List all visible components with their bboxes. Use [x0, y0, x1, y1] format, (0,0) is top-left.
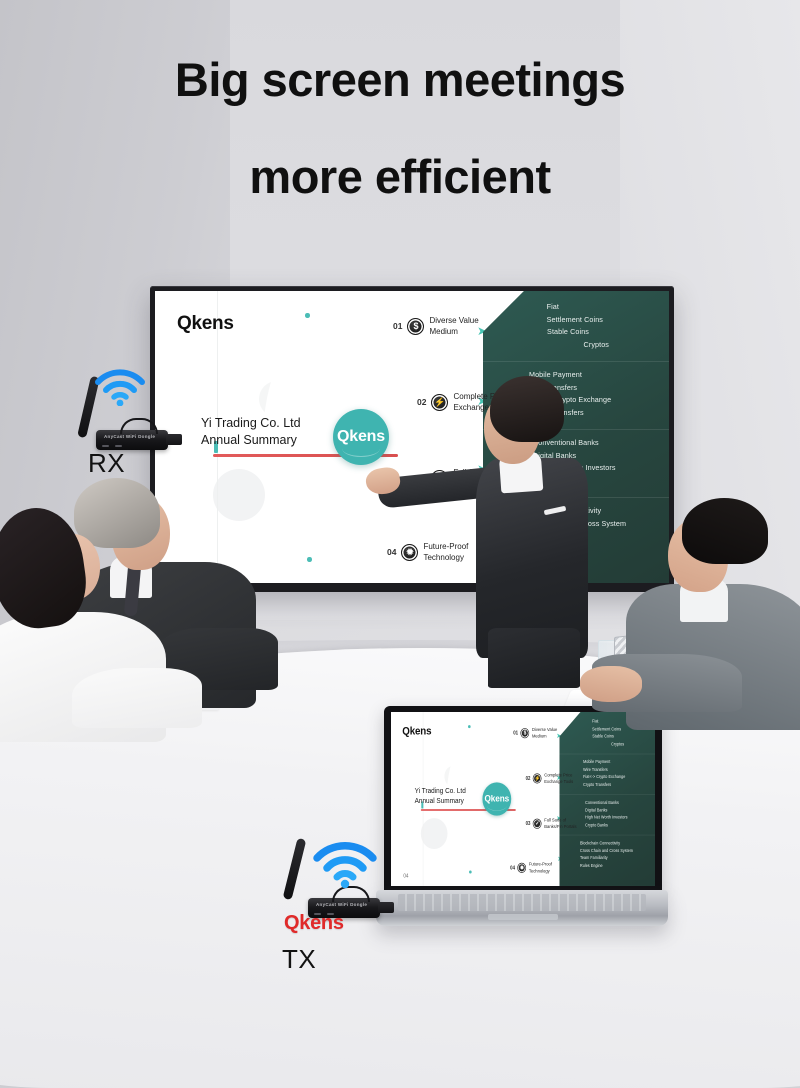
- coin-icon: ✹: [518, 862, 527, 872]
- slide-panel-line: Stable Coins: [570, 733, 632, 740]
- laptop-trackpad: [488, 914, 558, 920]
- slide-arc-dot: [469, 871, 471, 874]
- slide-item-text: Future-ProofTechnology: [529, 861, 552, 874]
- receiver-connector: [166, 434, 182, 445]
- laptop: ➤➤➤➤FiatSettlement CoinsStable CoinsCryp…: [376, 706, 668, 934]
- slide-logo: Qkens: [402, 725, 431, 738]
- slide-panel-group: Mobile PaymentWire TransfersFiat<-> Cryp…: [559, 758, 655, 788]
- slide-panel-line: Team Familiarity: [580, 854, 651, 861]
- slide-panel-line: Blockchain Connectivity: [580, 840, 651, 847]
- laptop-keyboard: [398, 894, 646, 911]
- coin-icon: ✹: [401, 544, 418, 561]
- slide-item-text: Complete PriceExchange Tools: [544, 772, 573, 785]
- headline-line-1: Big screen meetings: [0, 56, 800, 103]
- slide-item-number: 02: [526, 775, 531, 781]
- coin-icon: $: [521, 728, 530, 738]
- slide-company-title: Yi Trading Co. LtdAnnual Summary: [201, 415, 301, 449]
- slide-panel-line: Mobile Payment: [583, 758, 651, 765]
- wifi-icon-svg: [92, 366, 148, 406]
- slide-panel-line: Wire Transfers: [583, 766, 651, 773]
- slide-item-text: Future-ProofTechnology: [423, 541, 468, 563]
- slide-panel-group: Blockchain ConnectivityCross Chain and C…: [559, 840, 655, 870]
- slide-panel-line: Digital Banks: [585, 806, 651, 813]
- tx-label: TX: [282, 944, 316, 975]
- slide-list-item: 03✓Full Suite ofBanks/Fin Portals: [526, 817, 577, 830]
- slide-logo: Qkens: [177, 313, 234, 335]
- slide-item-number: 01: [513, 730, 518, 736]
- attendee-left-woman-arm: [72, 668, 202, 728]
- slide-panel-group: FiatSettlement CoinsStable CoinsCryptos: [483, 301, 669, 351]
- headline: Big screen meetings more efficient: [0, 56, 800, 200]
- transmitter-connector: [378, 902, 394, 913]
- slide-brand-badge: Qkens: [333, 409, 389, 465]
- slide-arc-dot: [305, 313, 310, 318]
- transmitter-device-text: AnyCast WiFi Dongle: [316, 902, 367, 907]
- slide-list-item: 01$Diverse ValueMedium: [513, 726, 557, 739]
- laptop-lid: ➤➤➤➤FiatSettlement CoinsStable CoinsCryp…: [384, 706, 662, 892]
- receiver-strap: [120, 418, 158, 434]
- slide-panel-line: High Net Worth Investors: [585, 814, 651, 821]
- slide-item-text: Full Suite ofBanks/Fin Portals: [544, 817, 576, 830]
- slide-panel-line: Settlement Coins: [503, 314, 623, 327]
- slide-green-panel: FiatSettlement CoinsStable CoinsCryptosM…: [559, 712, 655, 886]
- slide-panel-line: Stable Coins: [503, 326, 623, 339]
- presenter-legs: [488, 628, 580, 688]
- slide-company-title: Yi Trading Co. LtdAnnual Summary: [415, 786, 466, 806]
- slide-panel-line: Conventional Banks: [585, 799, 651, 806]
- receiver-leds: [102, 445, 122, 447]
- wifi-icon: [92, 366, 148, 406]
- slide-item-number: 04: [510, 865, 515, 871]
- receiver-device-text: AnyCast WiFi Dongle: [104, 434, 155, 439]
- presenter: [470, 376, 610, 676]
- slide-list-item: 01$Diverse ValueMedium: [393, 315, 479, 337]
- coin-icon: ⚡: [533, 773, 542, 783]
- slide-panel-separator: [483, 361, 669, 362]
- attendee-left-woman: [0, 508, 176, 708]
- presentation-slide-laptop: ➤➤➤➤FiatSettlement CoinsStable CoinsCryp…: [391, 712, 655, 886]
- slide-panel-line: Cross Chain and Cross System: [580, 847, 651, 854]
- transmitter-strap: [332, 886, 370, 902]
- slide-list-item: 04✹Future-ProofTechnology: [387, 541, 468, 563]
- slide-panel-line: Cryptos: [503, 339, 623, 352]
- slide-panel-line: Cryptos: [570, 740, 632, 747]
- slide-panel-line: Crypto Transfers: [583, 781, 651, 788]
- wifi-icon: [310, 838, 380, 888]
- rx-label: RX: [88, 448, 125, 479]
- slide-item-number: 01: [393, 321, 402, 331]
- slide-panel-line: Fiat: [503, 301, 623, 314]
- slide-arc-dot: [468, 725, 470, 728]
- laptop-screen: ➤➤➤➤FiatSettlement CoinsStable CoinsCryp…: [391, 712, 655, 886]
- slide-item-text: Diverse ValueMedium: [429, 315, 478, 337]
- slide-panel-line: Fiat<-> Crypto Exchange: [583, 773, 651, 780]
- coin-icon: ✓: [533, 818, 542, 828]
- slide-item-number: 03: [526, 820, 531, 826]
- coin-icon: $: [407, 318, 424, 335]
- slide-panel-line: Rules Engine: [580, 862, 651, 869]
- slide-item-number: 04: [387, 547, 396, 557]
- laptop-base: [376, 890, 668, 926]
- slide-item-number: 02: [417, 397, 426, 407]
- headline-line-2: more efficient: [0, 153, 800, 200]
- wifi-icon-svg: [310, 838, 380, 888]
- attendee-right: [616, 498, 800, 728]
- slide-panel-separator: [559, 754, 655, 755]
- slide-panel-line: Crypto Banks: [585, 821, 651, 828]
- presenter-hair: [490, 376, 564, 442]
- slide-brand-badge: Qkens: [482, 782, 511, 815]
- attendee-right-hair: [682, 498, 768, 564]
- slide-list-item: 04✹Future-ProofTechnology: [510, 861, 552, 874]
- transmitter-brand-label: Qkens: [284, 912, 344, 935]
- slide-panel-separator: [559, 835, 655, 836]
- coin-icon: ⚡: [431, 394, 448, 411]
- slide-list-item: 02⚡Complete PriceExchange Tools: [526, 772, 574, 785]
- slide-arc-dot: [307, 557, 312, 562]
- slide-panel-separator: [559, 794, 655, 795]
- slide-item-text: Diverse ValueMedium: [532, 726, 557, 739]
